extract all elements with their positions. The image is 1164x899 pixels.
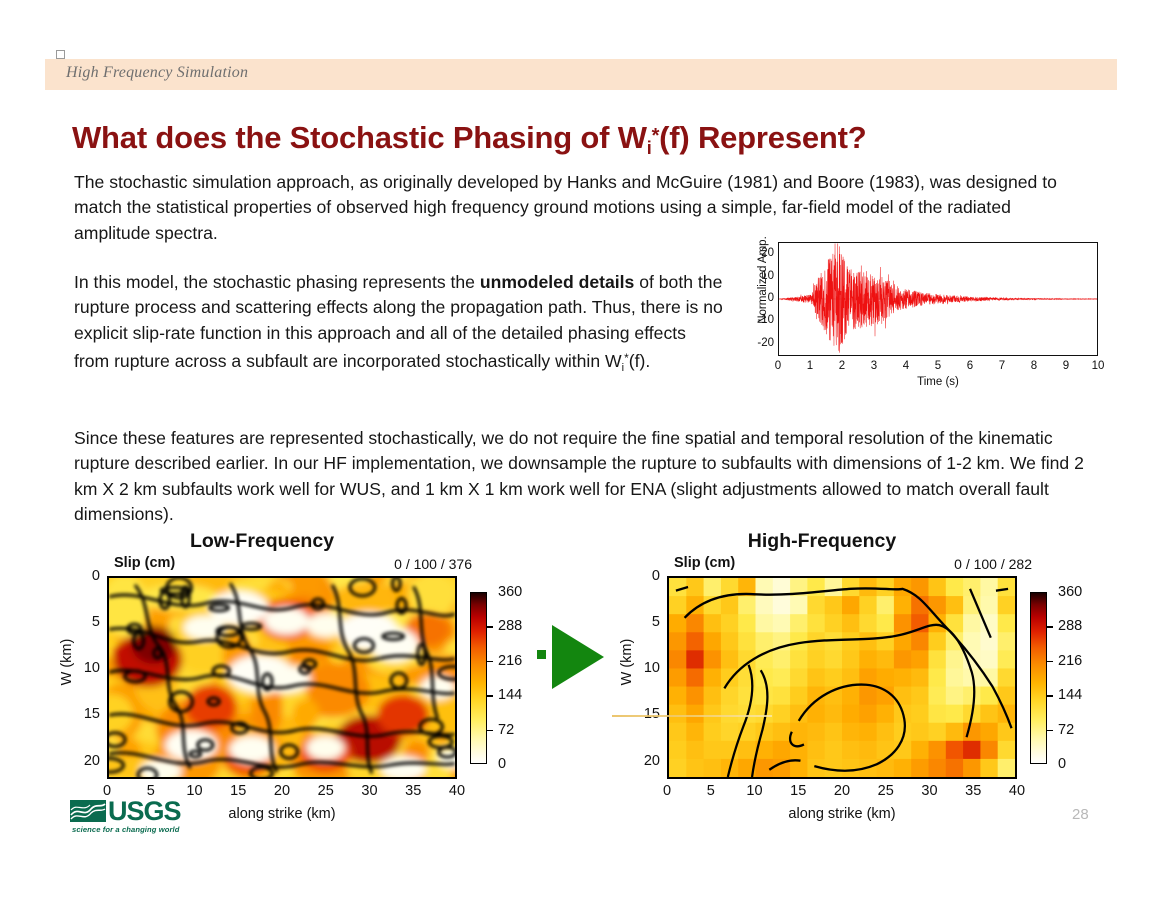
slip-cell [980, 741, 998, 760]
slip-x-tick: 10 [186, 783, 202, 799]
slip-cell [998, 596, 1015, 615]
slip-cell [842, 705, 860, 724]
seismogram-x-axis-label: Time (s) [778, 376, 1098, 388]
slip-cell [704, 687, 722, 706]
slip-cell [686, 705, 704, 724]
slip-cell [721, 668, 739, 687]
slip-cell [911, 650, 929, 669]
slip-cell [669, 596, 687, 615]
seismogram-figure: Normalized Amp. 20100-10-20 012345678910… [726, 240, 1106, 395]
page-number: 28 [1072, 806, 1089, 823]
high-frequency-quantity-label: Slip (cm) [674, 555, 735, 571]
slip-x-tick: 30 [361, 783, 377, 799]
slip-cell [929, 578, 947, 597]
slip-cell [946, 668, 964, 687]
slip-cell [894, 596, 912, 615]
slip-cell [669, 632, 687, 651]
slip-cell [980, 705, 998, 724]
slip-x-tick: 40 [449, 783, 465, 799]
slip-x-tick: 30 [921, 783, 937, 799]
slip-cell [929, 723, 947, 742]
slip-cell [790, 668, 808, 687]
slip-x-tick: 10 [746, 783, 762, 799]
page-title: What does the Stochastic Phasing of Wi*(… [72, 120, 1092, 159]
colorbar-tick-label: 216 [1058, 653, 1082, 669]
low-frequency-colorbar-ticks: 072144216288360 [487, 592, 532, 764]
slip-cell [704, 723, 722, 742]
slip-y-tick: 10 [644, 660, 660, 676]
slip-cell [738, 596, 756, 615]
seismogram-x-tick: 9 [1063, 360, 1069, 372]
slip-cell [963, 741, 981, 760]
slip-cell [859, 596, 877, 615]
slip-cell [946, 723, 964, 742]
slip-cell [773, 668, 791, 687]
slip-cell [911, 705, 929, 724]
slip-cell [825, 614, 843, 633]
colorbar-tick-label: 0 [1058, 756, 1066, 772]
slip-cell [842, 632, 860, 651]
slip-cell [980, 687, 998, 706]
high-frequency-range-label: 0 / 100 / 282 [862, 556, 1032, 572]
seismogram-y-tick: 0 [768, 292, 774, 304]
slip-cell [946, 741, 964, 760]
seismogram-plot-area [778, 242, 1098, 356]
slip-cell [721, 687, 739, 706]
slip-x-tick: 20 [834, 783, 850, 799]
seismogram-x-tick: 3 [871, 360, 877, 372]
seismogram-y-axis-ticks: 20100-10-20 [746, 240, 774, 357]
slip-cell [894, 614, 912, 633]
colorbar-tick-mark [487, 695, 493, 697]
usgs-logo-text: USGS [108, 796, 181, 827]
slip-cell [911, 741, 929, 760]
slip-cell [998, 668, 1015, 687]
slip-cell [704, 705, 722, 724]
slip-y-tick: 20 [644, 753, 660, 769]
arrow-dot-marker [537, 650, 546, 659]
body-paragraph-3: Since these features are represented sto… [74, 426, 1086, 528]
slip-cell [929, 668, 947, 687]
slip-cell [963, 723, 981, 742]
slip-cell [929, 741, 947, 760]
slip-cell [911, 759, 929, 777]
slip-cell [721, 614, 739, 633]
seismogram-x-tick: 8 [1031, 360, 1037, 372]
slip-cell [877, 596, 895, 615]
slip-cell [998, 578, 1015, 597]
usgs-wave-icon [70, 800, 106, 822]
slip-cell [929, 687, 947, 706]
slip-cell [738, 632, 756, 651]
seismogram-y-tick: 10 [761, 270, 774, 282]
slip-cell [859, 741, 877, 760]
slip-cell [842, 687, 860, 706]
colorbar-tick-label: 288 [1058, 618, 1082, 634]
slip-cell [894, 650, 912, 669]
colorbar-tick-label: 72 [1058, 722, 1074, 738]
slip-cell [894, 759, 912, 777]
slip-cell [807, 741, 825, 760]
slip-cell [704, 614, 722, 633]
high-frequency-title: High-Frequency [612, 530, 1032, 553]
seismogram-x-tick: 1 [807, 360, 813, 372]
slip-cell [877, 614, 895, 633]
colorbar-tick-label: 360 [498, 584, 522, 600]
slip-cell [980, 650, 998, 669]
colorbar-tick-label: 144 [498, 687, 522, 703]
slip-cell [686, 614, 704, 633]
usgs-logo: USGS science for a changing world [70, 798, 210, 840]
low-frequency-quantity-label: Slip (cm) [114, 555, 175, 571]
slip-cell [790, 650, 808, 669]
slip-y-tick: 0 [92, 568, 100, 584]
transform-arrow-icon [552, 625, 604, 689]
slip-cell [963, 759, 981, 777]
slip-cell [980, 759, 998, 777]
low-frequency-panel: Low-Frequency Slip (cm) 0 / 100 / 376 W … [52, 530, 522, 820]
slip-cell [669, 668, 687, 687]
high-frequency-x-axis-label: along strike (km) [667, 806, 1017, 822]
slip-cell [825, 668, 843, 687]
slip-cell [929, 650, 947, 669]
slip-cell [807, 650, 825, 669]
slip-cell [669, 687, 687, 706]
low-frequency-title: Low-Frequency [52, 530, 472, 553]
slip-cell [756, 614, 774, 633]
slip-cell [686, 741, 704, 760]
slip-cell [669, 741, 687, 760]
slip-cell [946, 687, 964, 706]
slip-cell [980, 578, 998, 597]
slip-cell [894, 578, 912, 597]
slip-cell [773, 723, 791, 742]
slip-cell [756, 632, 774, 651]
slip-cell [773, 650, 791, 669]
slip-cell [998, 614, 1015, 633]
slip-cell [911, 668, 929, 687]
slip-cell [790, 596, 808, 615]
slip-cell [842, 578, 860, 597]
slip-cell [859, 687, 877, 706]
slip-cell [825, 741, 843, 760]
slip-cell [877, 741, 895, 760]
slip-cell [721, 596, 739, 615]
seismogram-x-tick: 4 [903, 360, 909, 372]
slip-cell [825, 759, 843, 777]
slip-cell [756, 596, 774, 615]
seismogram-x-tick: 7 [999, 360, 1005, 372]
slip-cell [825, 650, 843, 669]
slip-cell [669, 759, 687, 777]
slip-cell [998, 759, 1015, 777]
colorbar-tick-label: 216 [498, 653, 522, 669]
slip-cell [859, 632, 877, 651]
slip-cell [877, 578, 895, 597]
high-frequency-panel: High-Frequency Slip (cm) 0 / 100 / 282 W… [612, 530, 1082, 820]
slip-x-tick: 35 [405, 783, 421, 799]
slip-cell [686, 723, 704, 742]
slip-cell [704, 741, 722, 760]
high-frequency-slip-map [667, 576, 1017, 779]
slip-cell [877, 650, 895, 669]
slip-cell [963, 614, 981, 633]
slip-cell [929, 632, 947, 651]
slip-cell [686, 687, 704, 706]
slip-cell [773, 687, 791, 706]
colorbar-tick-mark [487, 730, 493, 732]
slip-cell [807, 578, 825, 597]
slip-cell [842, 741, 860, 760]
low-frequency-colorbar-gradient [470, 592, 487, 764]
body-paragraph-2: In this model, the stochastic phasing re… [74, 270, 724, 382]
slip-y-tick: 10 [84, 660, 100, 676]
slip-cell [790, 687, 808, 706]
slip-cell [790, 723, 808, 742]
high-frequency-y-ticks: 05101520 [630, 576, 660, 779]
colorbar-tick-mark [487, 626, 493, 628]
slip-cell [842, 614, 860, 633]
slip-cell [980, 596, 998, 615]
slip-cell [859, 723, 877, 742]
colorbar-tick-mark [1047, 695, 1053, 697]
slip-cell [721, 632, 739, 651]
slip-cell [807, 614, 825, 633]
low-frequency-slip-map [107, 576, 457, 779]
body-paragraph-1: The stochastic simulation approach, as o… [74, 170, 1086, 247]
slide-canvas: High Frequency Simulation What does the … [0, 0, 1164, 899]
slip-cell [998, 723, 1015, 742]
slip-x-tick: 25 [878, 783, 894, 799]
seismogram-y-tick: 20 [761, 247, 774, 259]
colorbar-tick-mark [487, 661, 493, 663]
slip-cell [721, 650, 739, 669]
slip-cell [998, 741, 1015, 760]
slip-cell [929, 705, 947, 724]
slip-cell [807, 668, 825, 687]
slip-cell [877, 668, 895, 687]
low-frequency-colorbar: 072144216288360 [470, 592, 532, 764]
low-frequency-y-ticks: 05101520 [70, 576, 100, 779]
paragraph-2-tail: (f). [629, 351, 651, 371]
slip-cell [859, 650, 877, 669]
seismogram-y-tick: -20 [757, 337, 774, 349]
slip-cell [704, 650, 722, 669]
high-frequency-x-ticks: 0510152025303540 [667, 783, 1017, 803]
seismogram-x-axis-ticks: 012345678910 [778, 360, 1098, 376]
slip-cell [773, 705, 791, 724]
slip-cell [946, 578, 964, 597]
slip-cell [669, 723, 687, 742]
slip-cell [738, 741, 756, 760]
colorbar-tick-mark [1047, 626, 1053, 628]
page-title-prefix: What does the Stochastic Phasing of W [72, 120, 647, 155]
colorbar-tick-label: 144 [1058, 687, 1082, 703]
slip-cell [911, 687, 929, 706]
paragraph-2-lead: In this model, the stochastic phasing re… [74, 272, 480, 292]
slip-cell [790, 614, 808, 633]
paragraph-2-emphasis: unmodeled details [480, 272, 634, 292]
slip-cell [704, 759, 722, 777]
slip-cell [877, 705, 895, 724]
slip-cell [686, 668, 704, 687]
slip-cell [686, 632, 704, 651]
high-frequency-colorbar-ticks: 072144216288360 [1047, 592, 1092, 764]
usgs-logo-tagline: science for a changing world [72, 825, 179, 834]
slip-cell [842, 650, 860, 669]
slip-cell [807, 596, 825, 615]
slip-cell [894, 668, 912, 687]
slip-y-tick: 20 [84, 753, 100, 769]
slip-cell [946, 650, 964, 669]
high-frequency-colorbar: 072144216288360 [1030, 592, 1092, 764]
slip-cell [756, 687, 774, 706]
plot-artifact-line [612, 715, 772, 717]
slip-cell [877, 723, 895, 742]
slip-x-tick: 0 [663, 783, 671, 799]
slip-cell [998, 632, 1015, 651]
seismogram-x-tick: 0 [775, 360, 781, 372]
slip-cell [704, 668, 722, 687]
slip-cell [842, 759, 860, 777]
slip-x-tick: 20 [274, 783, 290, 799]
slip-y-tick: 5 [92, 614, 100, 630]
slip-cell [911, 723, 929, 742]
slip-cell [825, 596, 843, 615]
high-frequency-colorbar-gradient [1030, 592, 1047, 764]
slip-cell [859, 705, 877, 724]
selection-handle-icon [56, 50, 65, 59]
slip-cell [825, 705, 843, 724]
slip-cell [877, 759, 895, 777]
seismogram-x-tick: 2 [839, 360, 845, 372]
slip-cell [825, 578, 843, 597]
slip-cell [877, 632, 895, 651]
slip-cell [773, 614, 791, 633]
slip-cell [807, 723, 825, 742]
colorbar-tick-mark [1047, 661, 1053, 663]
slip-cell [929, 759, 947, 777]
slip-cell [669, 705, 687, 724]
page-title-suffix: (f) Represent? [659, 120, 866, 155]
slip-cell [998, 650, 1015, 669]
slip-cell [738, 614, 756, 633]
slip-cell [704, 578, 722, 597]
colorbar-tick-label: 360 [1058, 584, 1082, 600]
seismogram-y-tick: -10 [757, 314, 774, 326]
slip-cell [686, 650, 704, 669]
slip-cell [911, 632, 929, 651]
seismogram-x-tick: 6 [967, 360, 973, 372]
slip-cell [946, 759, 964, 777]
slip-cell [704, 632, 722, 651]
slip-cell [669, 650, 687, 669]
slip-cell [721, 723, 739, 742]
low-frequency-range-label: 0 / 100 / 376 [302, 556, 472, 572]
slip-x-tick: 15 [230, 783, 246, 799]
slip-x-tick: 15 [790, 783, 806, 799]
slip-x-tick: 5 [707, 783, 715, 799]
slip-cell [842, 723, 860, 742]
colorbar-tick-label: 72 [498, 722, 514, 738]
slip-cell [963, 687, 981, 706]
slip-cell [773, 741, 791, 760]
slip-y-tick: 15 [84, 706, 100, 722]
slip-cell [721, 705, 739, 724]
seismogram-x-tick: 10 [1092, 360, 1105, 372]
slip-y-tick: 5 [652, 614, 660, 630]
slip-cell [686, 578, 704, 597]
slip-x-tick: 40 [1009, 783, 1025, 799]
seismogram-x-tick: 5 [935, 360, 941, 372]
slip-cell [825, 723, 843, 742]
slip-cell [773, 596, 791, 615]
slip-y-tick: 0 [652, 568, 660, 584]
slip-cell [946, 705, 964, 724]
slip-cell [859, 614, 877, 633]
slip-cell [980, 723, 998, 742]
colorbar-tick-mark [1047, 730, 1053, 732]
colorbar-tick-label: 0 [498, 756, 506, 772]
slip-x-tick: 25 [318, 783, 334, 799]
slip-x-tick: 35 [965, 783, 981, 799]
slip-cell [686, 759, 704, 777]
slip-cell [842, 596, 860, 615]
header-banner-label: High Frequency Simulation [66, 64, 248, 82]
colorbar-tick-label: 288 [498, 618, 522, 634]
slip-cell [946, 596, 964, 615]
